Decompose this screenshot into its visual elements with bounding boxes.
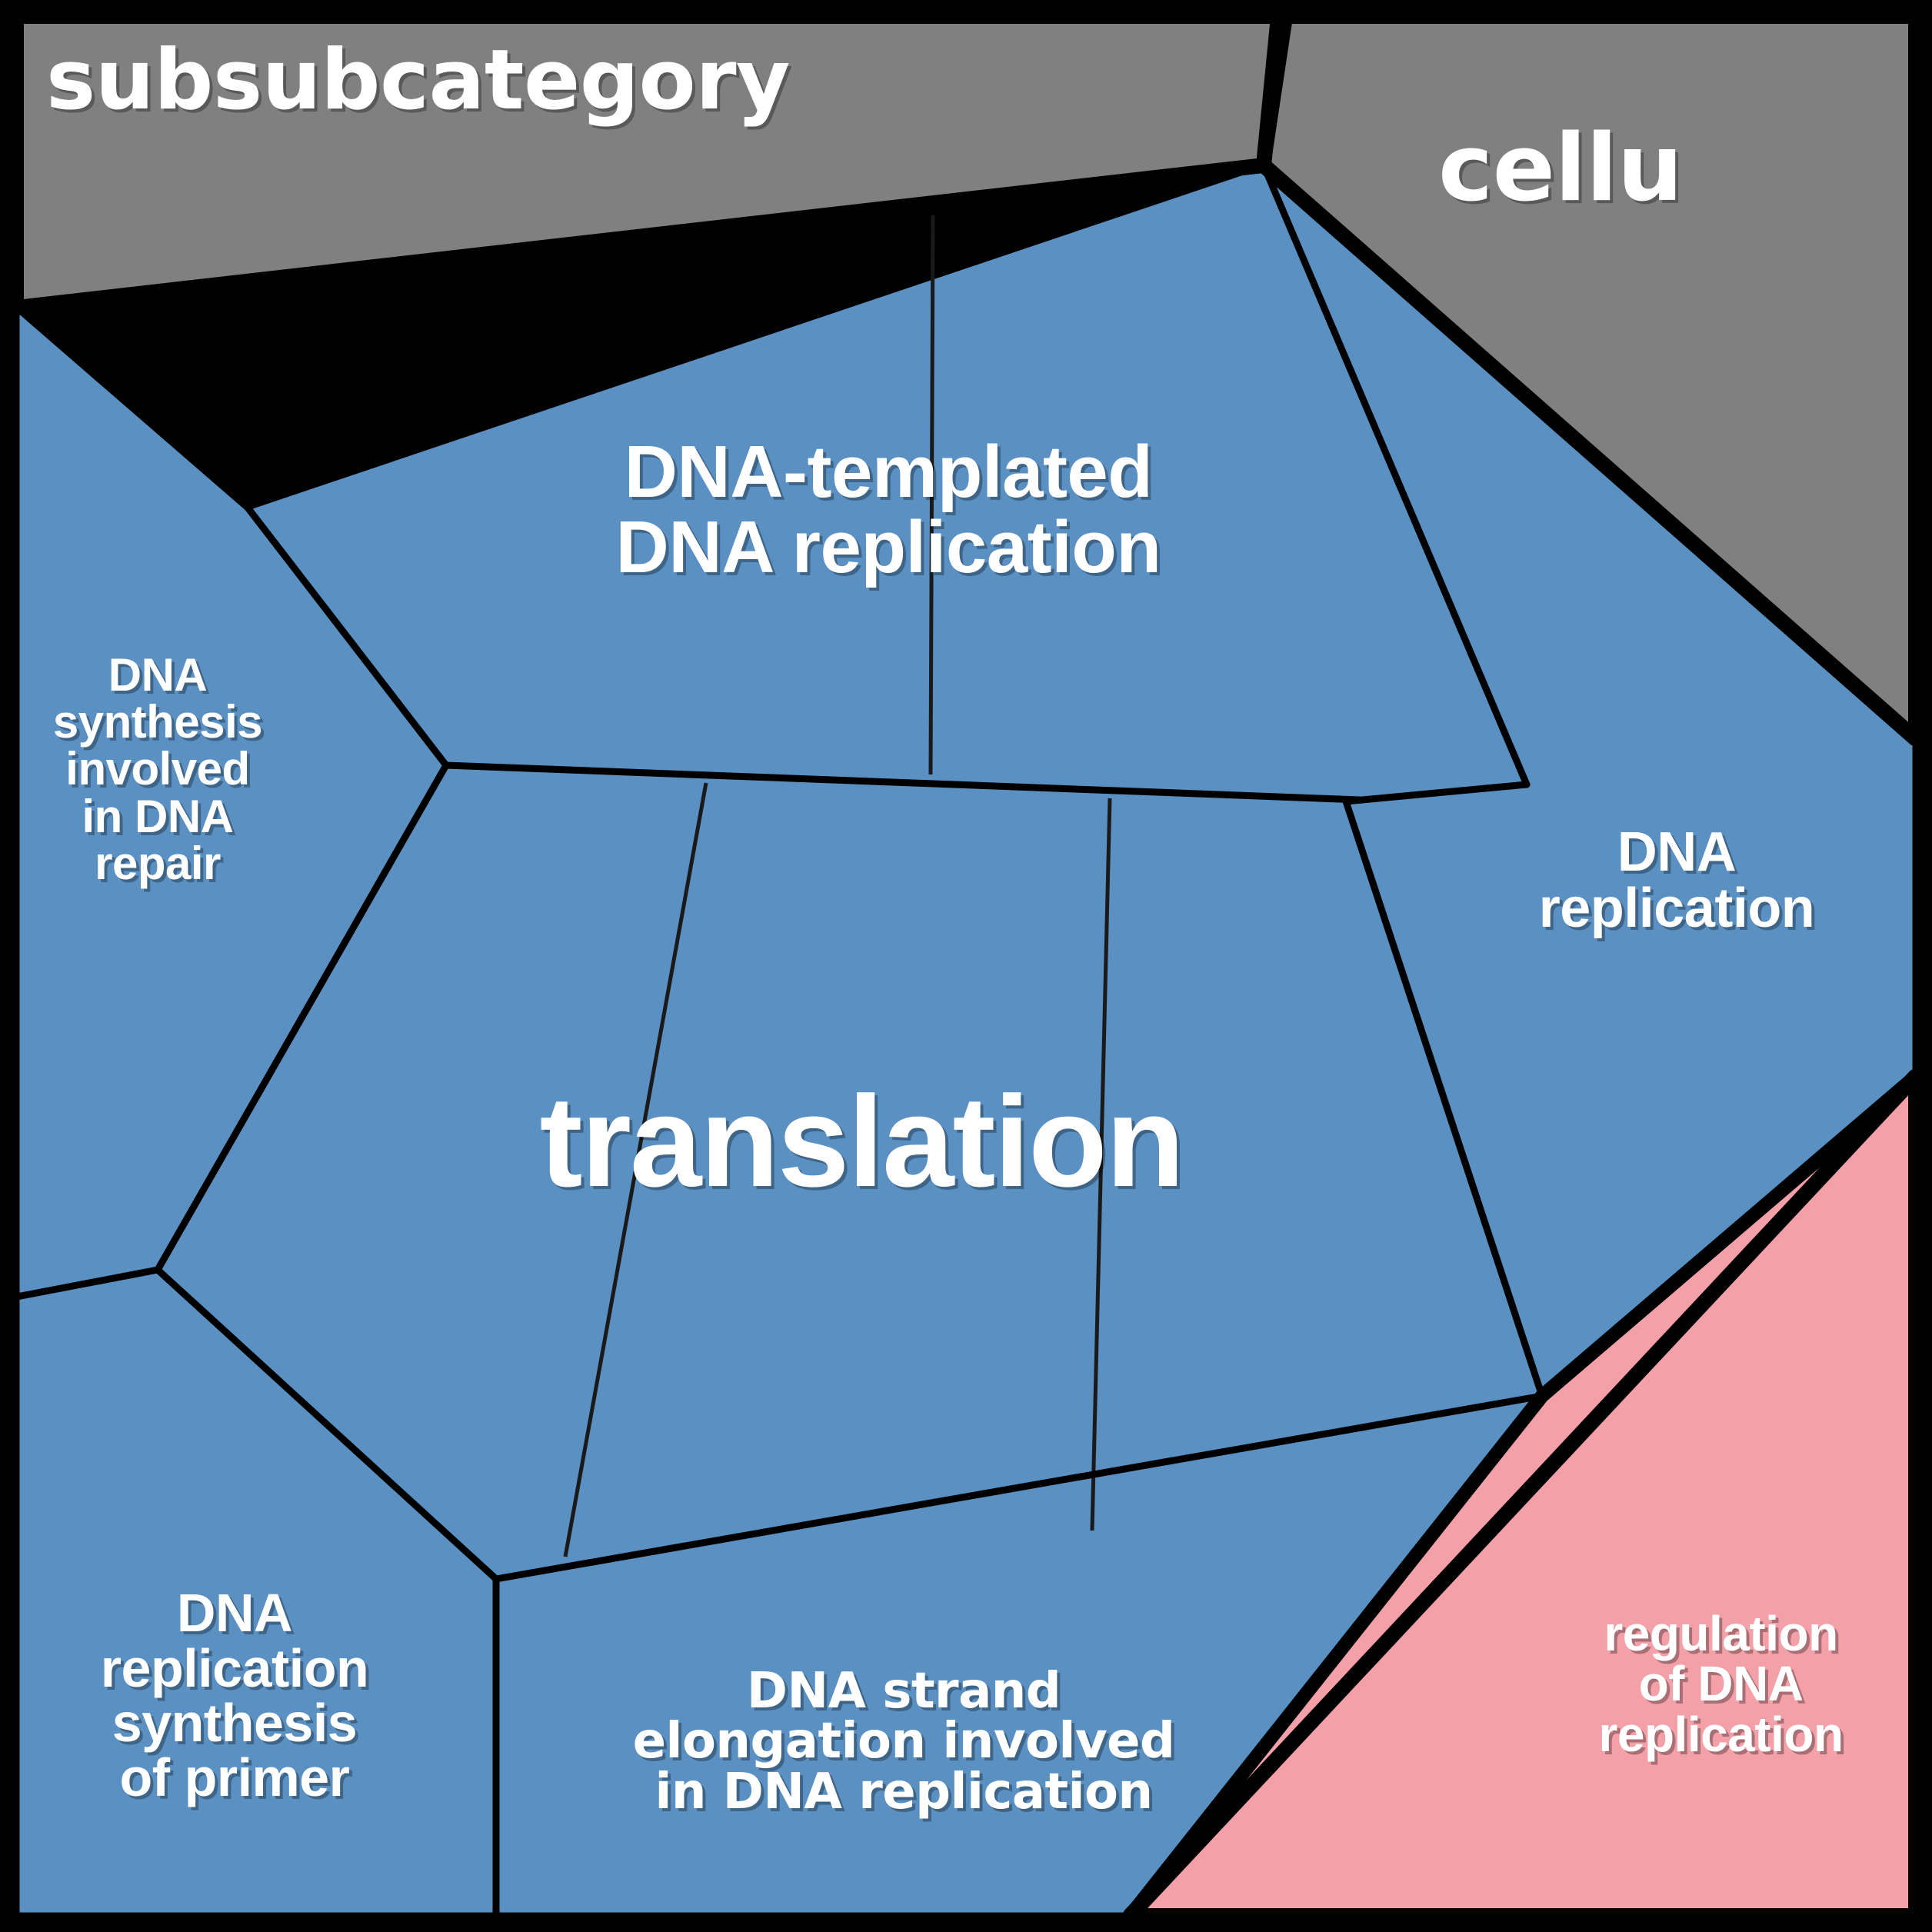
voronoi-treemap-figure: subsubcategory cellu DNA-templated DNA r… (0, 0, 1932, 1932)
thin-line-dna-templated-split (931, 215, 933, 774)
voronoi-cells-svg (0, 0, 1932, 1932)
